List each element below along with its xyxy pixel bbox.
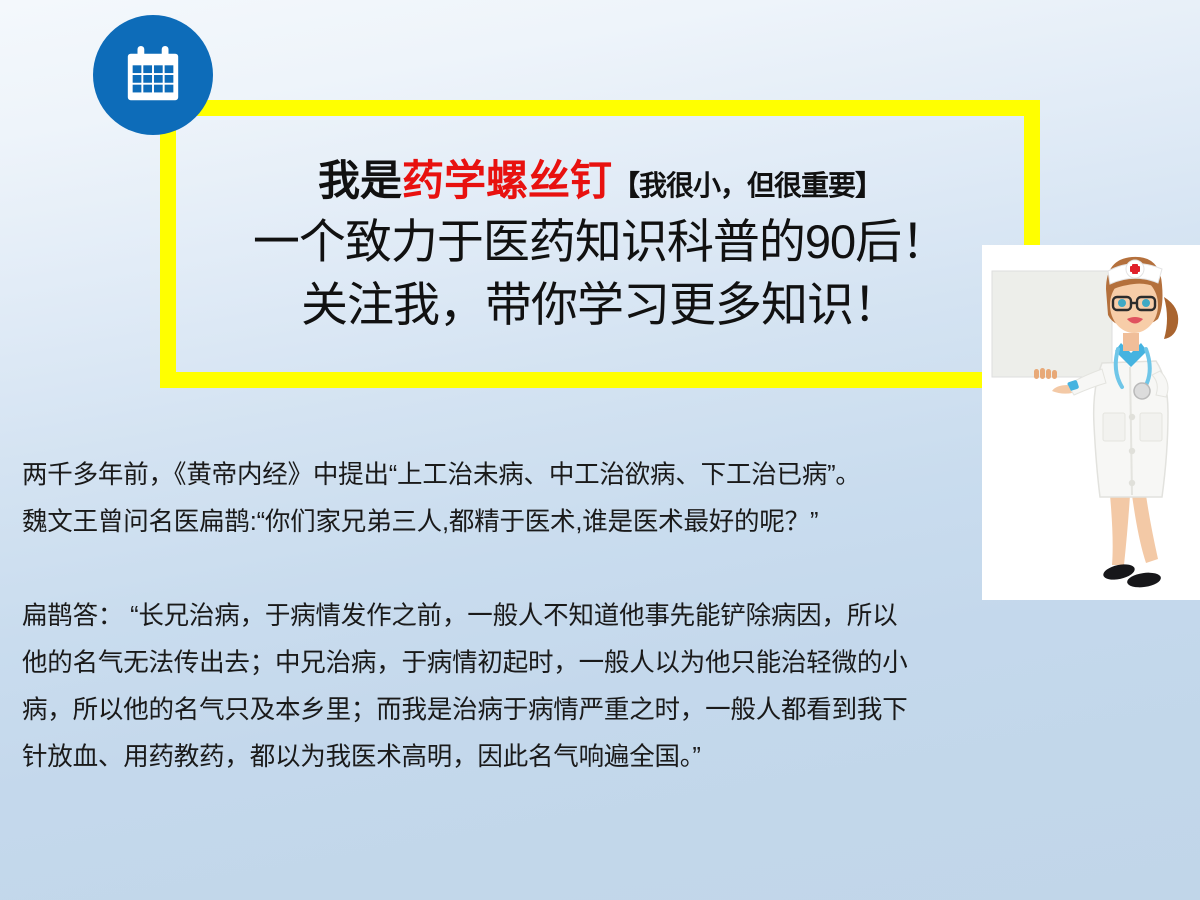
paragraph-1: 两千多年前，《黄帝内经》中提出“上工治未病、中工治欲病、下工治已病”。 魏文王曾… (22, 452, 1082, 546)
paragraph-2-line-1: 扁鹊答： “长兄治病，于病情发作之前，一般人不知道他事先能铲除病因，所以 (22, 593, 1082, 640)
headline-line-3: 关注我，带你学习更多知识！ (301, 279, 899, 332)
frame-border-top (160, 100, 1040, 116)
frame-border-bottom (160, 372, 982, 388)
headline-bracket-note: 【我很小，但很重要】 (612, 170, 882, 201)
paragraph-2-line-3: 病，所以他的名气只及本乡里；而我是治病于病情严重之时，一般人都看到我下 (22, 687, 1082, 734)
nurse-image-panel (982, 245, 1200, 600)
calendar-badge (93, 15, 213, 135)
paragraph-2-line-2: 他的名气无法传出去；中兄治病，于病情初起时，一般人以为他只能治轻微的小 (22, 640, 1082, 687)
paragraph-2-line-4: 针放血、用药教药，都以为我医术高明，因此名气响遍全国。” (22, 734, 1082, 781)
headline-line-2: 一个致力于医药知识科普的90后！ (253, 216, 947, 269)
paragraph-1-line-2: 魏文王曾问名医扁鹊:“你们家兄弟三人,都精于医术,谁是医术最好的呢？” (22, 499, 1082, 546)
frame-border-right (1024, 100, 1040, 246)
paragraph-2: 扁鹊答： “长兄治病，于病情发作之前，一般人不知道他事先能铲除病因，所以 他的名… (22, 593, 1082, 781)
headline-accent: 药学螺丝钉 (402, 157, 612, 204)
paragraph-spacer (22, 546, 1082, 593)
frame-border-left (160, 100, 176, 388)
headline-block: 我是药学螺丝钉【我很小，但很重要】 一个致力于医药知识科普的90后！ 关注我，带… (176, 116, 1024, 372)
headline-line-1: 我是药学螺丝钉【我很小，但很重要】 (318, 157, 882, 204)
slide-canvas: 我是药学螺丝钉【我很小，但很重要】 一个致力于医药知识科普的90后！ 关注我，带… (0, 0, 1200, 900)
body-copy: 两千多年前，《黄帝内经》中提出“上工治未病、中工治欲病、下工治已病”。 魏文王曾… (22, 452, 1082, 781)
paragraph-1-line-1: 两千多年前，《黄帝内经》中提出“上工治未病、中工治欲病、下工治已病”。 (22, 452, 1082, 499)
nurse-illustration (982, 245, 1200, 600)
headline-prefix: 我是 (318, 157, 402, 204)
